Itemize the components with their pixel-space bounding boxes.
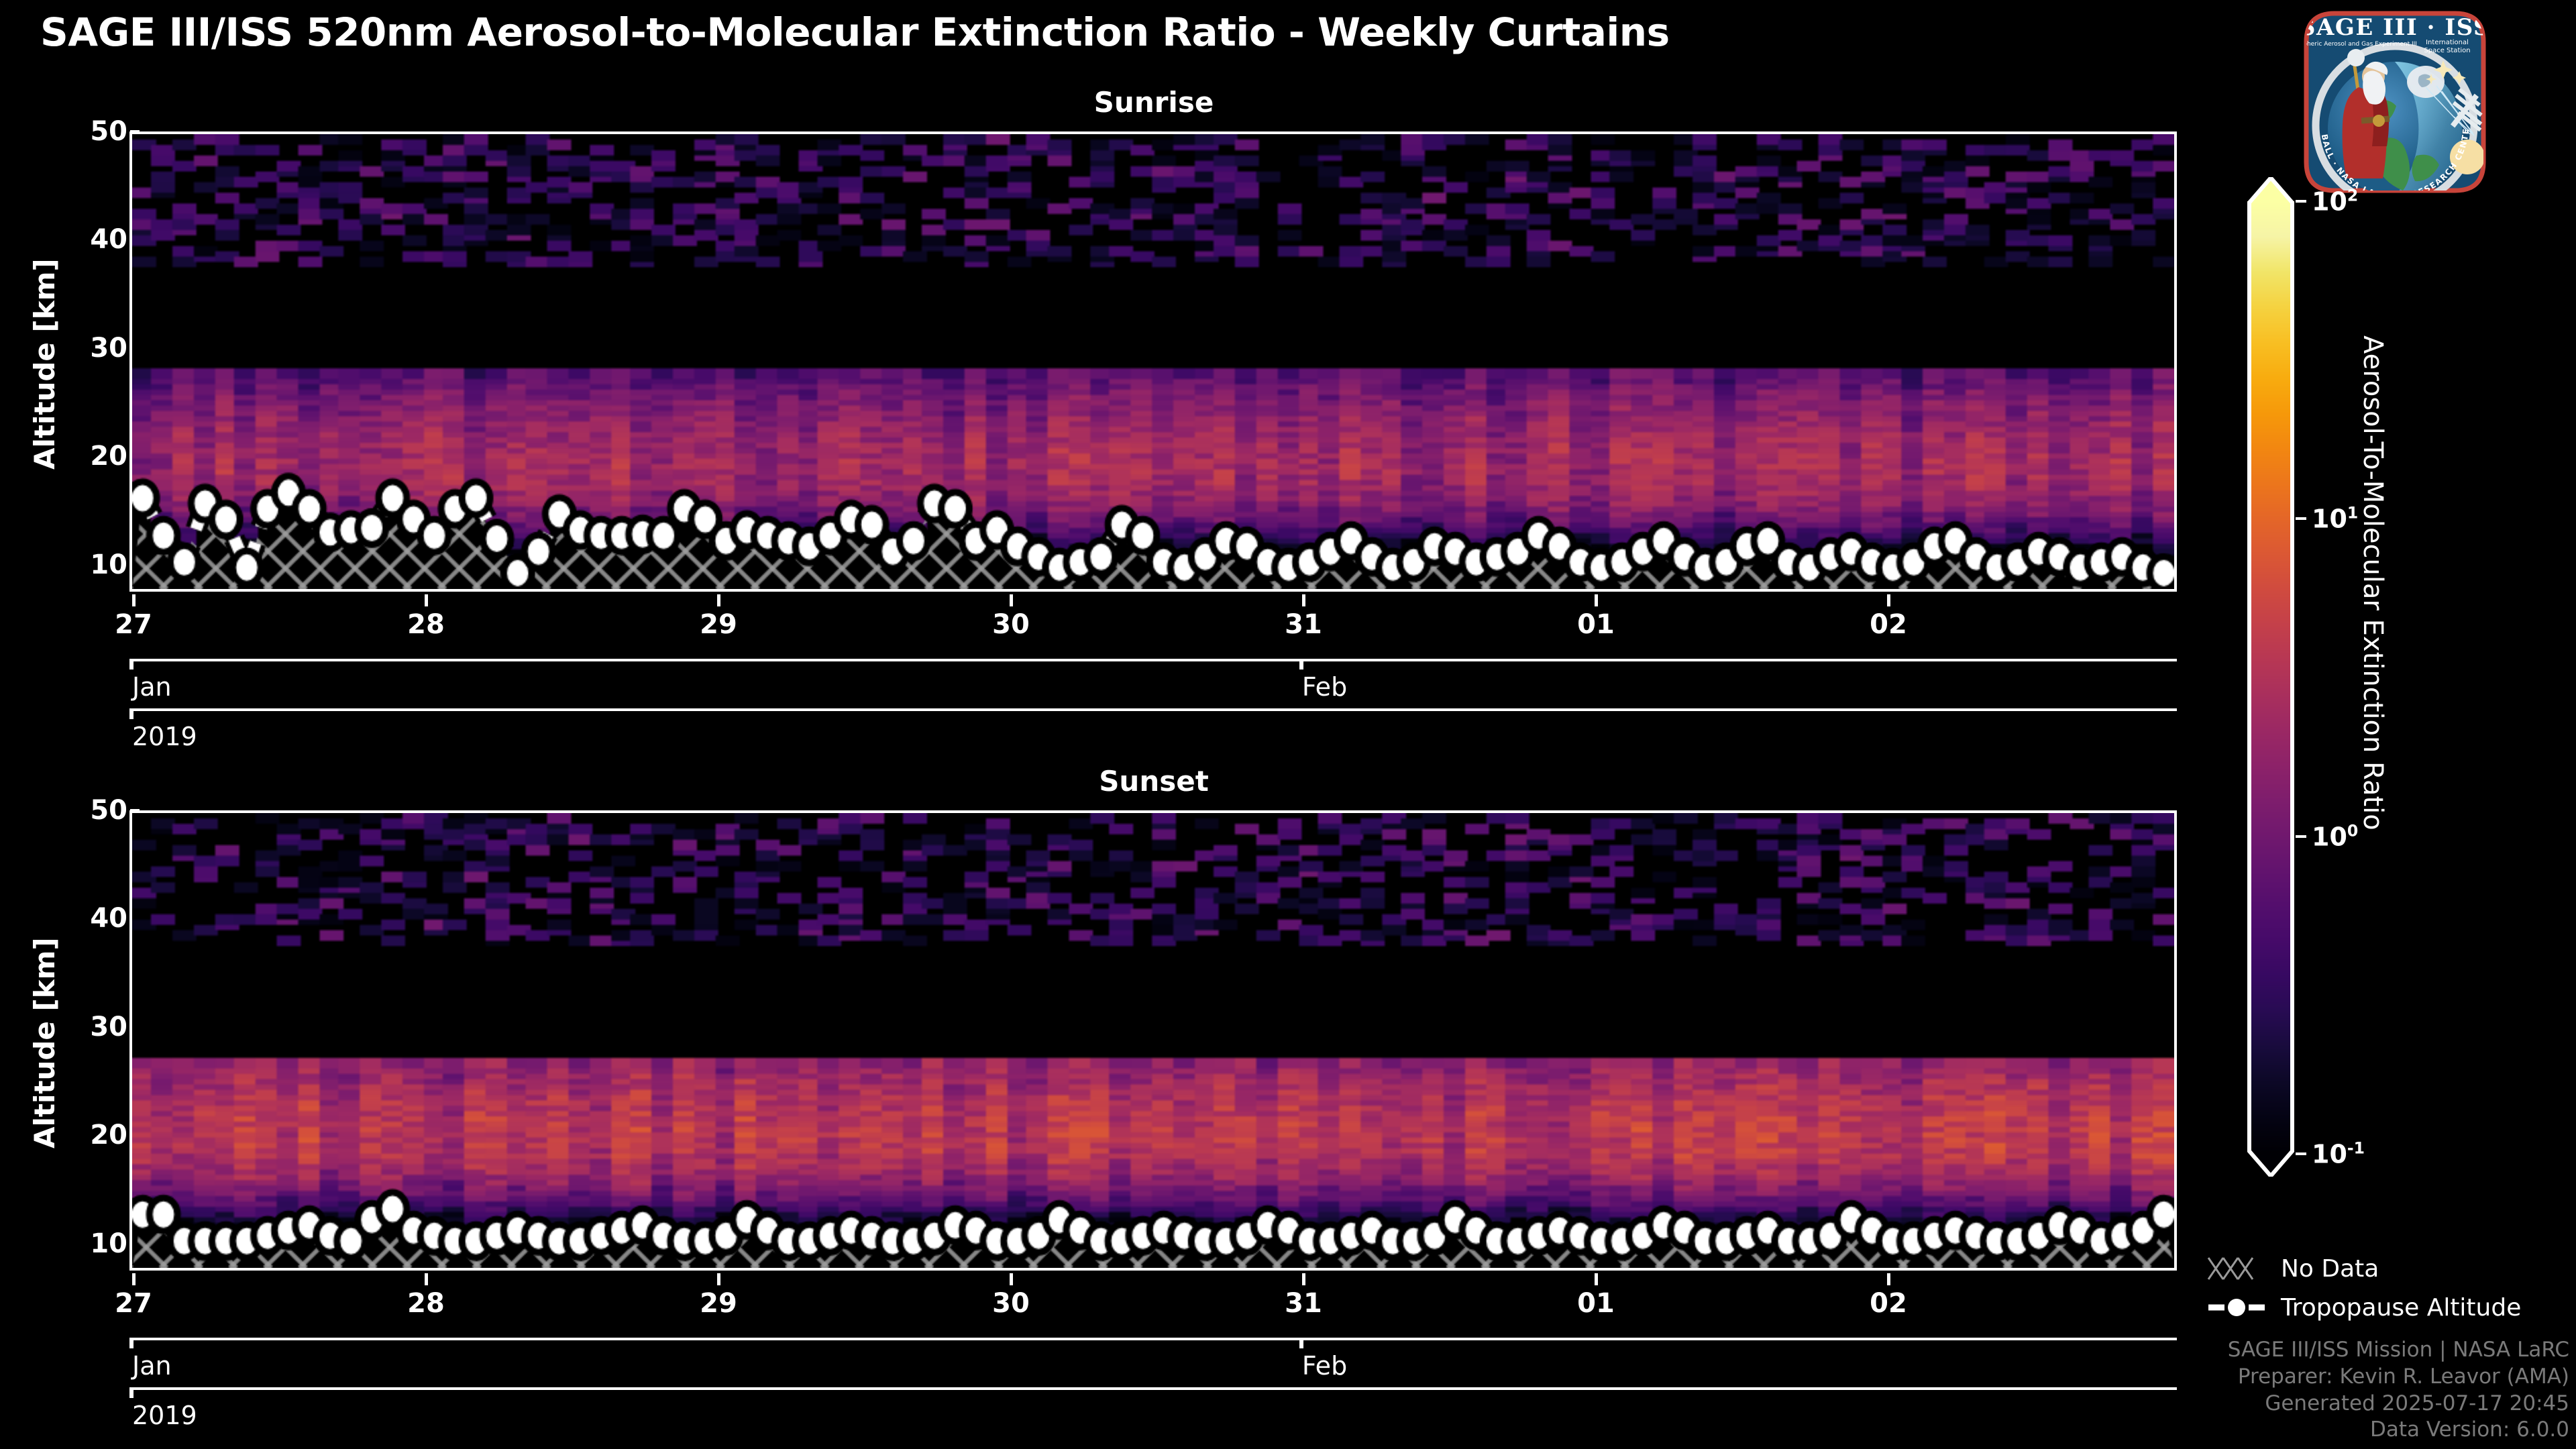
x-tick-label-28: 28	[407, 1288, 445, 1319]
colorbar-tick-label-0: 102	[2312, 186, 2358, 217]
legend-label-no-data: No Data	[2281, 1255, 2379, 1283]
year-level-rule	[129, 708, 2177, 711]
month-level-rule	[129, 1338, 2177, 1340]
x-tick-mark-29	[717, 1273, 720, 1285]
tropopause-overlay-sunrise	[132, 134, 2174, 589]
x-tick-mark-31	[1302, 594, 1305, 606]
x-tick-mark-29	[717, 594, 720, 606]
logo-subtitle-right-1: International	[2426, 39, 2469, 46]
x-axis-sunrise: 27282930310102JanFeb2019	[129, 594, 2177, 742]
x-tick-mark-31	[1302, 1273, 1305, 1285]
year-level-rule	[129, 1387, 2177, 1390]
x-tick-label-30: 30	[992, 609, 1030, 640]
x-tick-label-02: 02	[1870, 609, 1907, 640]
footer-line-generated: Generated 2025-07-17 20:45	[2228, 1391, 2569, 1417]
legend-item-no-data: No Data	[2207, 1249, 2569, 1288]
x-tick-mark-28	[425, 594, 428, 606]
tropopause-overlay-sunset	[132, 813, 2174, 1268]
no-data-hatch-icon	[2207, 1254, 2269, 1283]
footer: SAGE III/ISS Mission | NASA LaRC Prepare…	[2228, 1337, 2569, 1444]
colorbar-tick-label-3: 10-1	[2312, 1139, 2365, 1169]
year-tick-2019	[129, 1387, 133, 1398]
y-tick-label-40: 40	[47, 903, 127, 934]
x-tick-label-02: 02	[1870, 1288, 1907, 1319]
y-tick-label-10: 10	[47, 549, 127, 580]
legend-item-tropopause: Tropopause Altitude	[2207, 1288, 2569, 1327]
legend-label-tropopause: Tropopause Altitude	[2281, 1294, 2521, 1322]
x-tick-label-29: 29	[700, 1288, 737, 1319]
x-tick-label-01: 01	[1577, 1288, 1615, 1319]
colorbar-tick	[2296, 835, 2306, 838]
y-tick-label-10: 10	[47, 1228, 127, 1259]
month-label-Jan: Jan	[132, 1351, 172, 1381]
heatmap-panel-sunrise[interactable]	[129, 131, 2177, 592]
y-axis-label-sunset: Altitude [km]	[28, 937, 61, 1148]
logo-top-text: SAGE III · ISS	[2299, 14, 2491, 41]
x-tick-label-29: 29	[700, 609, 737, 640]
x-tick-mark-30	[1010, 594, 1013, 606]
x-tick-mark-02	[1887, 594, 1890, 606]
colorbar-title: Aerosol-To-Molecular Extinction Ratio	[2357, 335, 2388, 830]
panel-title-sunset: Sunset	[127, 765, 2180, 798]
x-tick-label-27: 27	[115, 609, 152, 640]
y-tick-label-50: 50	[47, 795, 127, 826]
x-tick-mark-27	[132, 1273, 136, 1285]
month-tick-Jan	[129, 1338, 133, 1348]
x-tick-label-01: 01	[1577, 609, 1615, 640]
footer-line-mission: SAGE III/ISS Mission | NASA LaRC	[2228, 1337, 2569, 1364]
month-level-rule	[129, 659, 2177, 661]
year-label-2019: 2019	[132, 722, 197, 751]
x-tick-mark-28	[425, 1273, 428, 1285]
month-tick-Feb	[1299, 659, 1303, 669]
year-label-2019: 2019	[132, 1401, 197, 1430]
colorbar-outline	[2247, 177, 2294, 1177]
x-tick-mark-30	[1010, 1273, 1013, 1285]
month-label-Feb: Feb	[1302, 672, 1347, 702]
month-tick-Feb	[1299, 1338, 1303, 1348]
x-tick-label-31: 31	[1285, 1288, 1322, 1319]
x-tick-mark-01	[1595, 1273, 1598, 1285]
x-tick-label-28: 28	[407, 609, 445, 640]
heatmap-panel-sunset[interactable]	[129, 810, 2177, 1271]
footer-line-version: Data Version: 6.0.0	[2228, 1417, 2569, 1444]
month-label-Jan: Jan	[132, 672, 172, 702]
colorbar-tick	[2296, 1152, 2306, 1155]
page-title: SAGE III/ISS 520nm Aerosol-to-Molecular …	[40, 9, 2254, 55]
x-axis-sunset: 27282930310102JanFeb2019	[129, 1273, 2177, 1421]
x-tick-label-31: 31	[1285, 609, 1322, 640]
colorbar-tick	[2296, 517, 2306, 520]
y-axis-label-sunrise: Altitude [km]	[28, 258, 61, 470]
x-tick-mark-02	[1887, 1273, 1890, 1285]
colorbar-tick-label-1: 101	[2312, 504, 2358, 534]
legend: No Data Tropopause Altitude	[2207, 1249, 2569, 1327]
logo-subtitle-left: Stratospheric Aerosol and Gas Experiment…	[2294, 41, 2417, 48]
month-label-Feb: Feb	[1302, 1351, 1347, 1381]
x-tick-label-27: 27	[115, 1288, 152, 1319]
logo-svg: SAGE III · ISS Stratospheric Aerosol and…	[2294, 1, 2495, 203]
tropopause-line-icon	[2207, 1293, 2269, 1322]
month-tick-Jan	[129, 659, 133, 669]
sage-iii-iss-logo: SAGE III · ISS Stratospheric Aerosol and…	[2294, 1, 2495, 203]
colorbar-tick-label-2: 100	[2312, 821, 2358, 851]
y-tick-label-40: 40	[47, 224, 127, 255]
year-tick-2019	[129, 708, 133, 719]
colorbar[interactable]: 10210110010-1	[2247, 201, 2294, 1154]
footer-line-preparer: Preparer: Kevin R. Leavor (AMA)	[2228, 1364, 2569, 1391]
panel-title-sunrise: Sunrise	[127, 86, 2180, 119]
x-tick-mark-01	[1595, 594, 1598, 606]
logo-subtitle-right-2: Space Station	[2424, 47, 2470, 54]
x-tick-mark-27	[132, 594, 136, 606]
y-tick-label-50: 50	[47, 116, 127, 147]
x-tick-label-30: 30	[992, 1288, 1030, 1319]
colorbar-tick	[2296, 200, 2306, 203]
